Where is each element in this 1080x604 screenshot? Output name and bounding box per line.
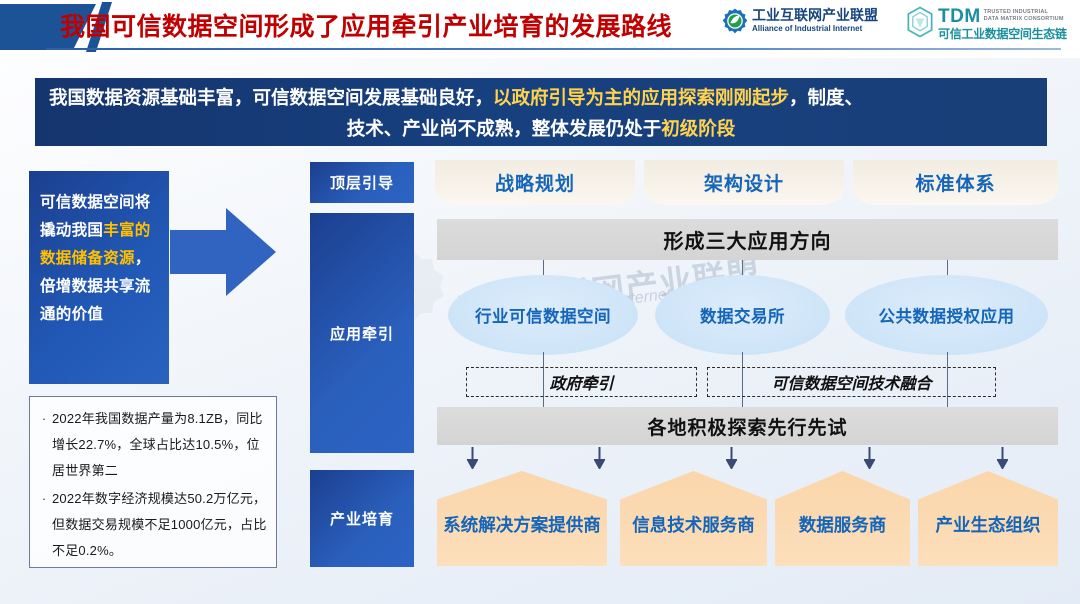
stat-text: 2022年我国数据产量为8.1ZB，同比增长22.7%，全球占比达10.5%，位… bbox=[52, 406, 268, 484]
dashed-box-tech-integration: 可信数据空间技术融合 bbox=[707, 367, 996, 397]
row-label-top-guidance: 顶层引导 bbox=[310, 162, 414, 203]
tdm-logo-line2: DATA MATRIX CONSORTIUM bbox=[984, 16, 1064, 23]
statistics-box: · 2022年我国数据产量为8.1ZB，同比增长22.7%，全球占比达10.5%… bbox=[29, 396, 277, 568]
top-row-card-architecture[interactable]: 架构设计 bbox=[644, 160, 844, 205]
top-row-card-strategy[interactable]: 战略规划 bbox=[435, 160, 635, 205]
right-arrow-icon bbox=[168, 196, 280, 308]
industry-card-it-services[interactable]: 信息技术服务商 bbox=[620, 471, 767, 566]
gray-bar-local-exploration: 各地积极探索先行先试 bbox=[437, 407, 1058, 445]
banner-highlight-2: 初级阶段 bbox=[661, 118, 735, 139]
industry-card-system-solutions[interactable]: 系统解决方案提供商 bbox=[437, 471, 607, 566]
application-ellipse-data-exchange[interactable]: 数据交易所 bbox=[655, 275, 830, 355]
tdm-hexagon-logo-icon bbox=[905, 6, 935, 38]
application-ellipse-industry-space[interactable]: 行业可信数据空间 bbox=[448, 275, 638, 355]
down-arrow-icon bbox=[467, 447, 478, 469]
header-divider bbox=[46, 48, 1061, 50]
down-arrow-icon bbox=[997, 447, 1008, 469]
banner-seg4: 技术、产业尚不成熟，整体发展仍处于 bbox=[347, 118, 662, 139]
gray-bar-three-directions: 形成三大应用方向 bbox=[437, 219, 1058, 260]
page-title: 我国可信数据空间形成了应用牵引产业培育的发展路线 bbox=[60, 8, 720, 46]
banner-seg3: ，制度、 bbox=[789, 87, 863, 108]
industry-card-data-services[interactable]: 数据服务商 bbox=[775, 471, 910, 566]
industry-card-ecosystem-org[interactable]: 产业生态组织 bbox=[918, 471, 1058, 566]
tdm-logo-line1: TRUSTED INDUSTRIAL bbox=[984, 9, 1064, 16]
aii-logo-cn: 工业互联网产业联盟 bbox=[752, 8, 898, 23]
aii-gear-logo-icon bbox=[722, 8, 748, 34]
stat-text: 2022年数字经济规模达50.2万亿元，但数据交易规模不足1000亿元，占比不足… bbox=[52, 486, 268, 564]
banner-highlight-1: 以政府引导为主的应用探索刚刚起步 bbox=[493, 87, 789, 108]
tdm-logo-cn: 可信工业数据空间生态链 bbox=[938, 27, 1080, 41]
slide-header: 我国可信数据空间形成了应用牵引产业培育的发展路线 工业互联网产业联盟 Allia… bbox=[0, 0, 1080, 58]
row-label-industry-cultivation: 产业培育 bbox=[310, 470, 414, 567]
tdm-logo-mark: TDM bbox=[938, 7, 981, 27]
application-ellipse-public-data[interactable]: 公共数据授权应用 bbox=[845, 275, 1048, 355]
bullet-glyph: · bbox=[36, 406, 52, 432]
tdm-logo-text: TDM TRUSTED INDUSTRIAL DATA MATRIX CONSO… bbox=[938, 7, 1080, 41]
down-arrow-icon bbox=[864, 447, 875, 469]
aii-logo-en: Alliance of Industrial Internet bbox=[752, 23, 898, 34]
down-arrow-icon bbox=[726, 447, 737, 469]
list-item: · 2022年我国数据产量为8.1ZB，同比增长22.7%，全球占比达10.5%… bbox=[36, 406, 268, 484]
sidebar-statement-box: 可信数据空间将撬动我国丰富的数据储备资源，倍增数据共享流通的价值 bbox=[29, 171, 169, 384]
dashed-box-government-traction: 政府牵引 bbox=[466, 367, 697, 397]
bullet-glyph: · bbox=[36, 486, 52, 512]
top-row-card-standards[interactable]: 标准体系 bbox=[853, 160, 1058, 205]
row-label-application-traction: 应用牵引 bbox=[310, 213, 414, 453]
down-arrow-icon bbox=[594, 447, 605, 469]
slide-root: 我国可信数据空间形成了应用牵引产业培育的发展路线 工业互联网产业联盟 Allia… bbox=[0, 0, 1080, 604]
aii-logo-text: 工业互联网产业联盟 Alliance of Industrial Interne… bbox=[752, 8, 898, 34]
list-item: · 2022年数字经济规模达50.2万亿元，但数据交易规模不足1000亿元，占比… bbox=[36, 486, 268, 564]
summary-banner: 我国数据资源基础丰富，可信数据空间发展基础良好，以政府引导为主的应用探索刚刚起步… bbox=[35, 78, 1047, 146]
banner-seg1: 我国数据资源基础丰富，可信数据空间发展基础良好， bbox=[49, 87, 493, 108]
